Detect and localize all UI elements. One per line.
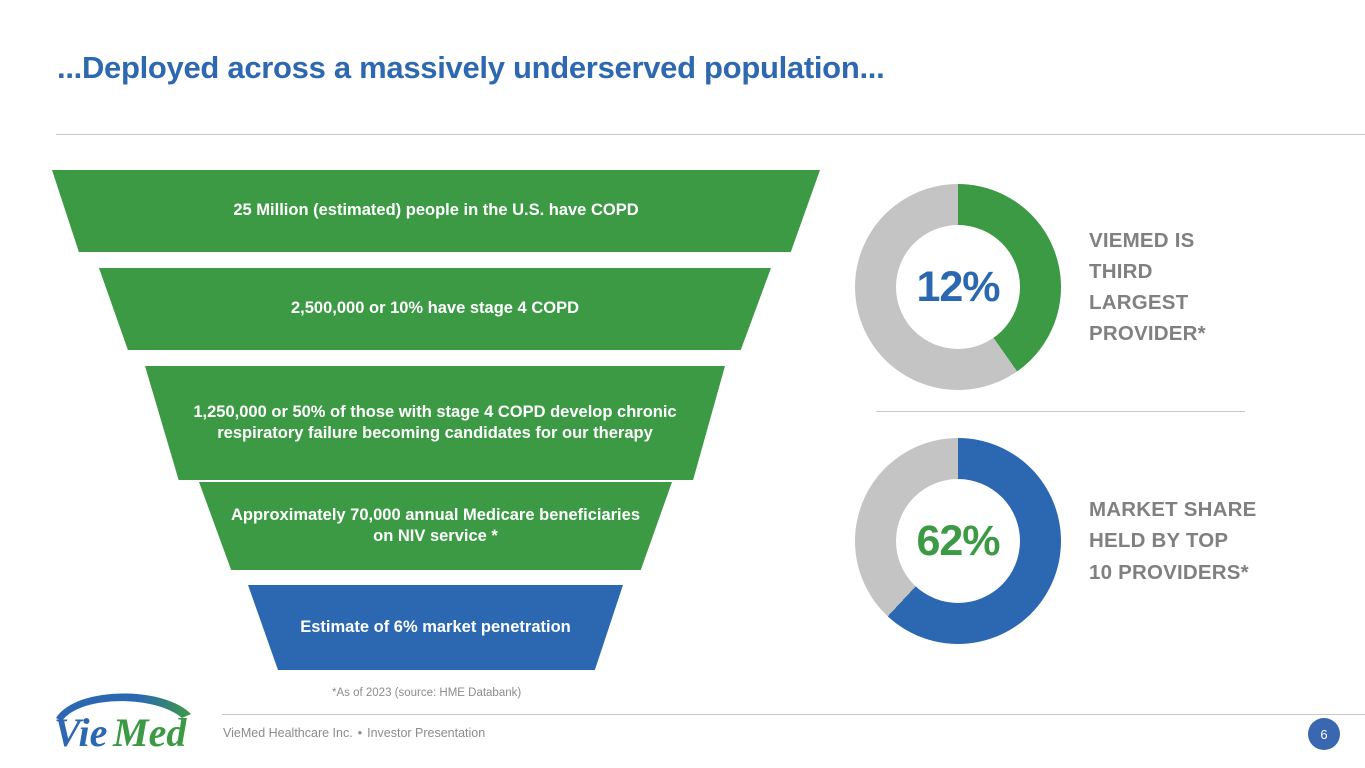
page-title: ...Deployed across a massively underserv…: [57, 50, 884, 86]
donut-value-1: 12%: [916, 266, 999, 309]
footer-company: VieMed Healthcare Inc.: [223, 726, 353, 740]
donut-center-2: 62%: [896, 479, 1020, 603]
logo-text-vie: Vie: [54, 710, 107, 752]
funnel-stage-3: 1,250,000 or 50% of those with stage 4 C…: [145, 366, 725, 480]
page-number-badge: 6: [1308, 718, 1340, 750]
donut-caption-2: MARKET SHARE HELD BY TOP 10 PROVIDERS*: [1089, 494, 1257, 587]
funnel-stage-5: Estimate of 6% market penetration: [248, 585, 623, 670]
donut-center-1: 12%: [896, 225, 1020, 349]
donut-section-divider: [876, 411, 1245, 412]
header-divider: [56, 134, 1365, 135]
donut-panel-market-share: 62% MARKET SHARE HELD BY TOP 10 PROVIDER…: [855, 438, 1257, 644]
funnel-stage-1: 25 Million (estimated) people in the U.S…: [52, 170, 820, 252]
funnel-stage-5-label: Estimate of 6% market penetration: [270, 617, 601, 638]
funnel-stage-2-label: 2,500,000 or 10% have stage 4 COPD: [261, 298, 609, 319]
funnel-stage-3-label: 1,250,000 or 50% of those with stage 4 C…: [145, 402, 725, 444]
funnel-chart: 25 Million (estimated) people in the U.S…: [0, 160, 840, 680]
donut-caption-1: VIEMED IS THIRD LARGEST PROVIDER*: [1089, 225, 1206, 350]
footer-text: VieMed Healthcare Inc.•Investor Presenta…: [223, 726, 485, 740]
funnel-stage-2: 2,500,000 or 10% have stage 4 COPD: [99, 268, 771, 350]
viemed-logo: Vie Med: [50, 688, 202, 752]
footer-divider: [222, 714, 1365, 715]
logo-text-med: Med: [112, 710, 187, 752]
donut-chart-62-percent: 62%: [855, 438, 1061, 644]
funnel-stage-4: Approximately 70,000 annual Medicare ben…: [199, 482, 672, 570]
source-footnote: *As of 2023 (source: HME Databank): [332, 687, 521, 699]
footer-separator: •: [353, 726, 367, 740]
donut-panel-provider-rank: 12% VIEMED IS THIRD LARGEST PROVIDER*: [855, 184, 1206, 390]
donut-value-2: 62%: [916, 520, 999, 563]
donut-chart-12-percent: 12%: [855, 184, 1061, 390]
funnel-stage-1-label: 25 Million (estimated) people in the U.S…: [203, 200, 668, 221]
footer-document: Investor Presentation: [367, 726, 485, 740]
viemed-logo-mark: Vie Med: [50, 688, 202, 752]
funnel-stage-4-label: Approximately 70,000 annual Medicare ben…: [199, 505, 672, 547]
